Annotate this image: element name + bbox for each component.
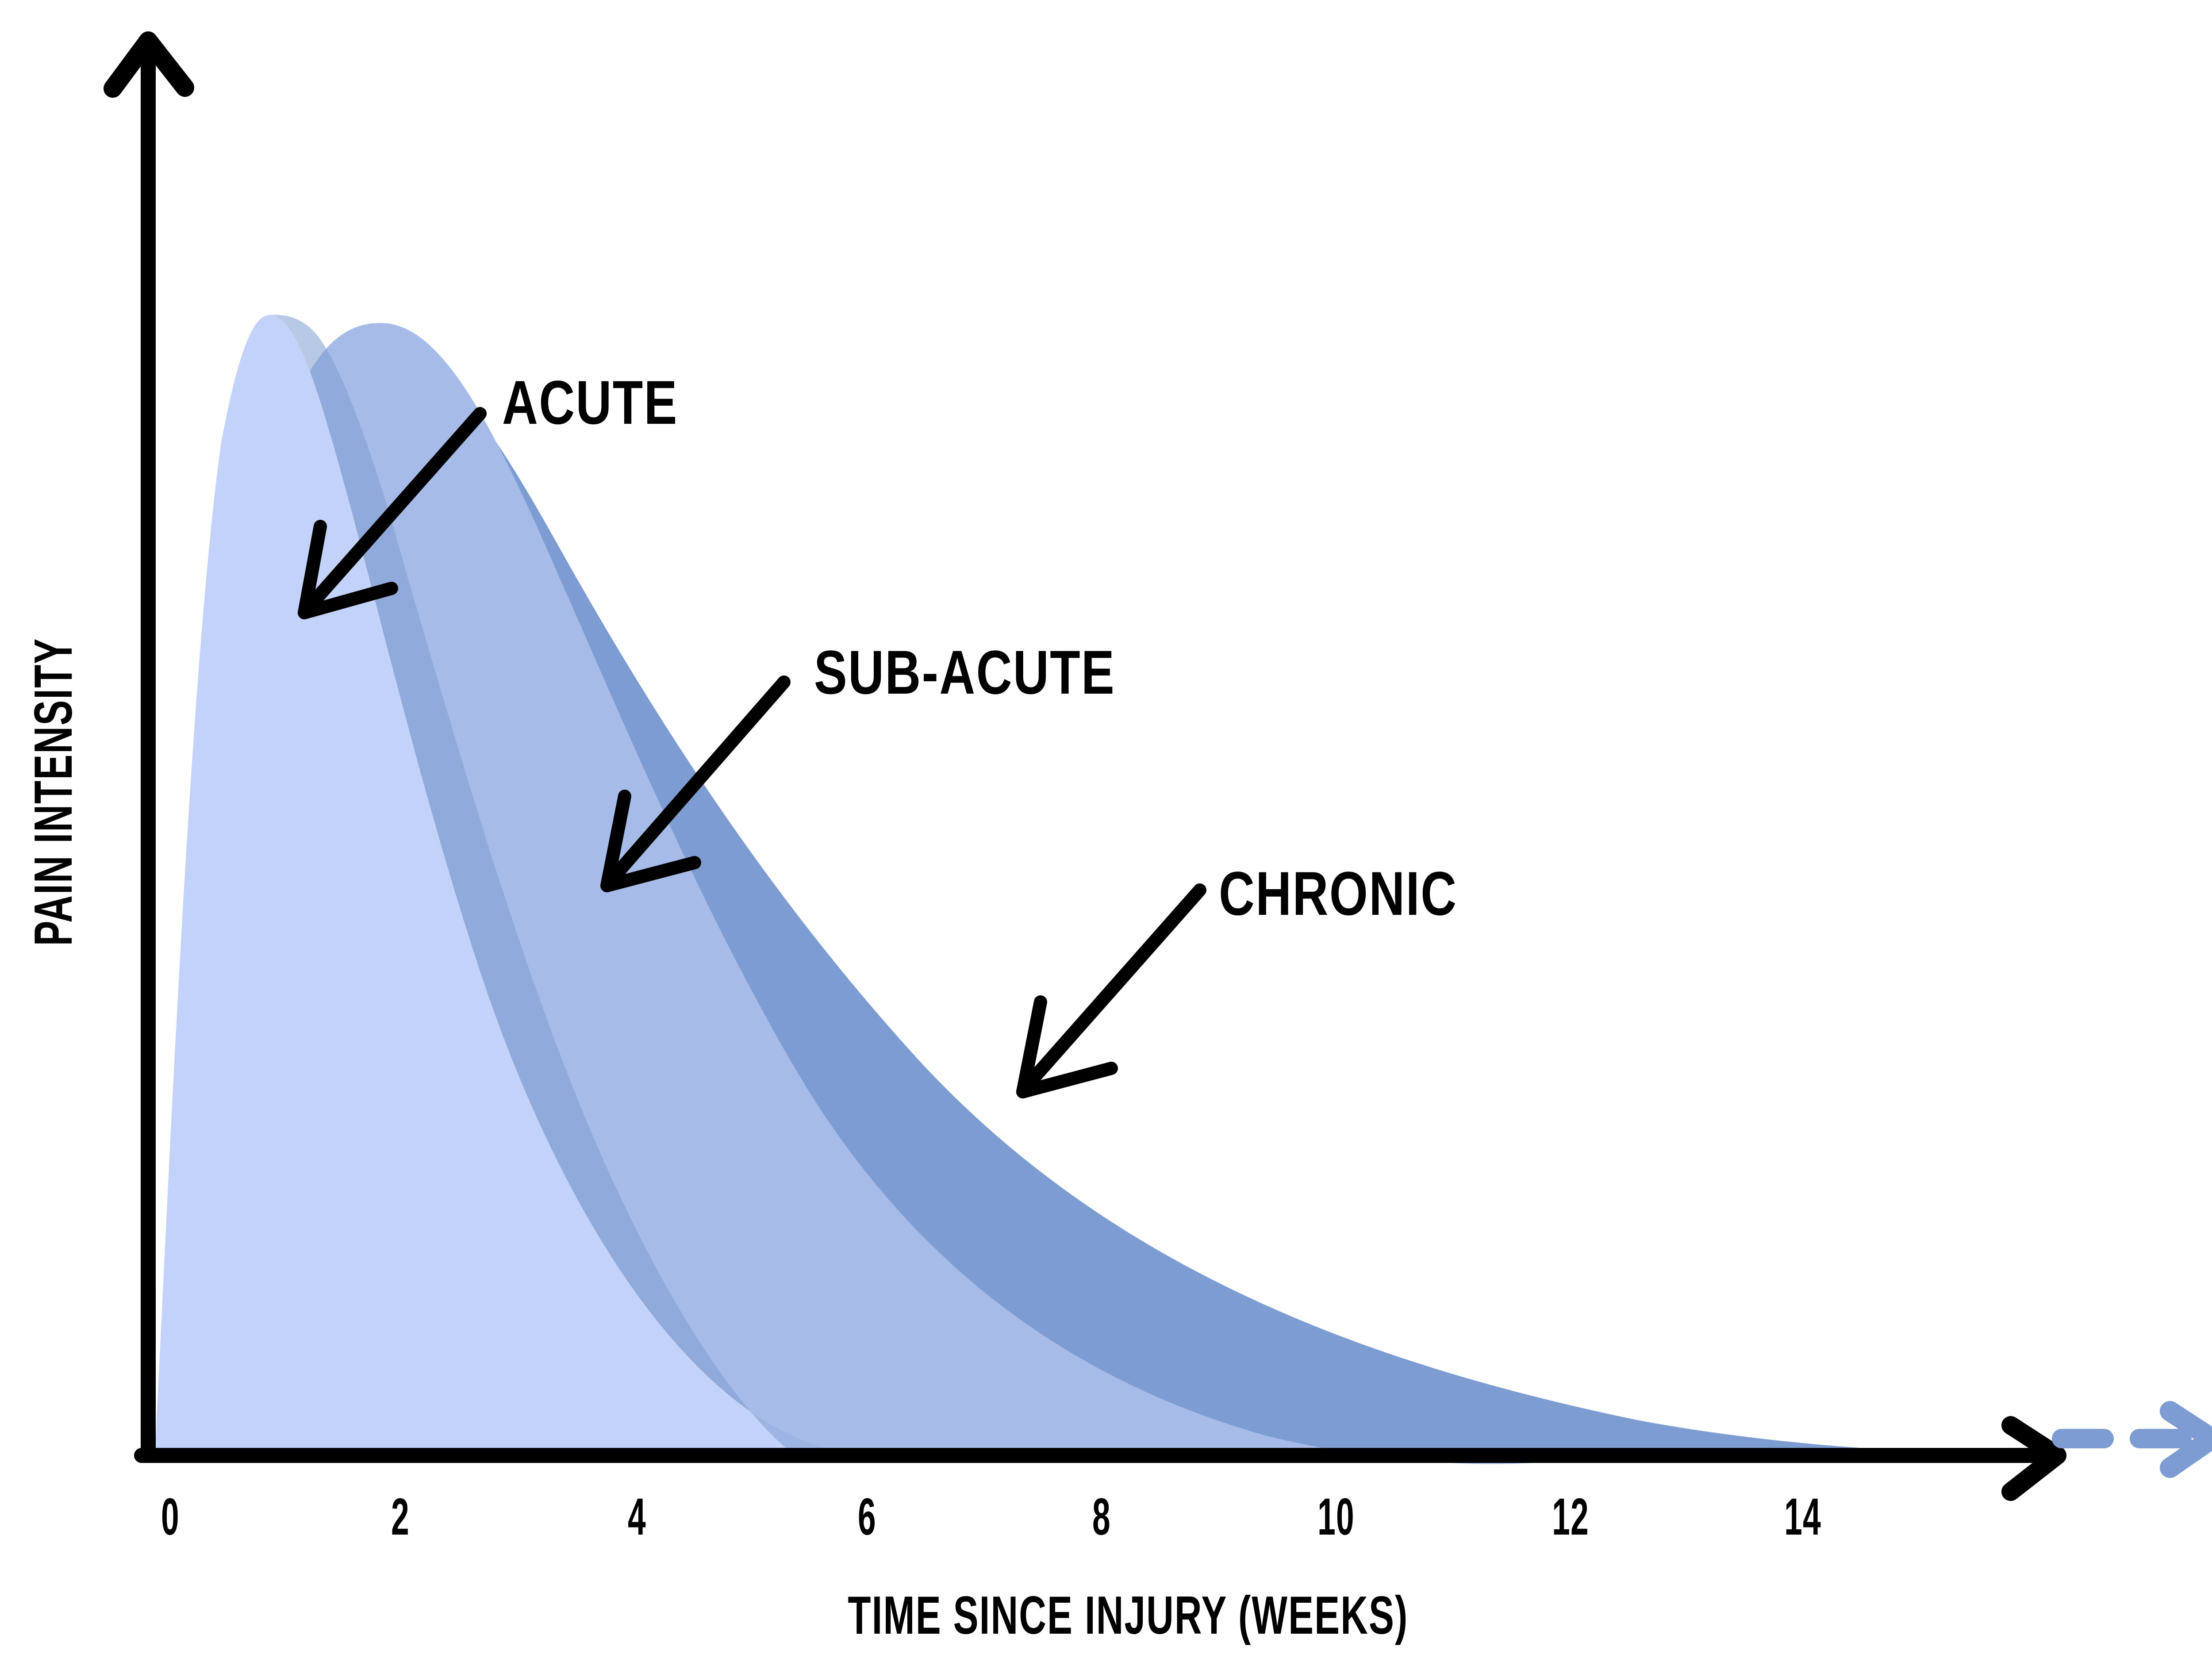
x-tick-label-6: 6	[858, 1491, 876, 1543]
continuation-dashed-arrow-icon	[2062, 1411, 2212, 1468]
x-tick-label-10: 10	[1317, 1491, 1355, 1543]
acute-label: ACUTE	[502, 372, 678, 434]
x-axis-title: TIME SINCE INJURY (WEEKS)	[848, 1588, 1408, 1642]
x-tick-label-0: 0	[161, 1491, 180, 1543]
x-tick-label-8: 8	[1092, 1491, 1111, 1543]
chronic-arrow-icon	[1023, 890, 1200, 1092]
x-tick-label-2: 2	[391, 1491, 410, 1543]
y-axis-title: PAIN INTENSITY	[26, 638, 80, 946]
x-tick-label-4: 4	[628, 1491, 646, 1543]
sub-acute-label: SUB-ACUTE	[814, 641, 1115, 703]
chart-canvas: 0 2 4 6 8 10 12 14 TIME SINCE INJURY (WE…	[0, 0, 2212, 1662]
pain-intensity-area-chart	[0, 0, 2212, 1662]
x-tick-label-14: 14	[1784, 1491, 1821, 1543]
x-tick-label-12: 12	[1552, 1491, 1589, 1543]
chronic-label: CHRONIC	[1219, 863, 1457, 925]
